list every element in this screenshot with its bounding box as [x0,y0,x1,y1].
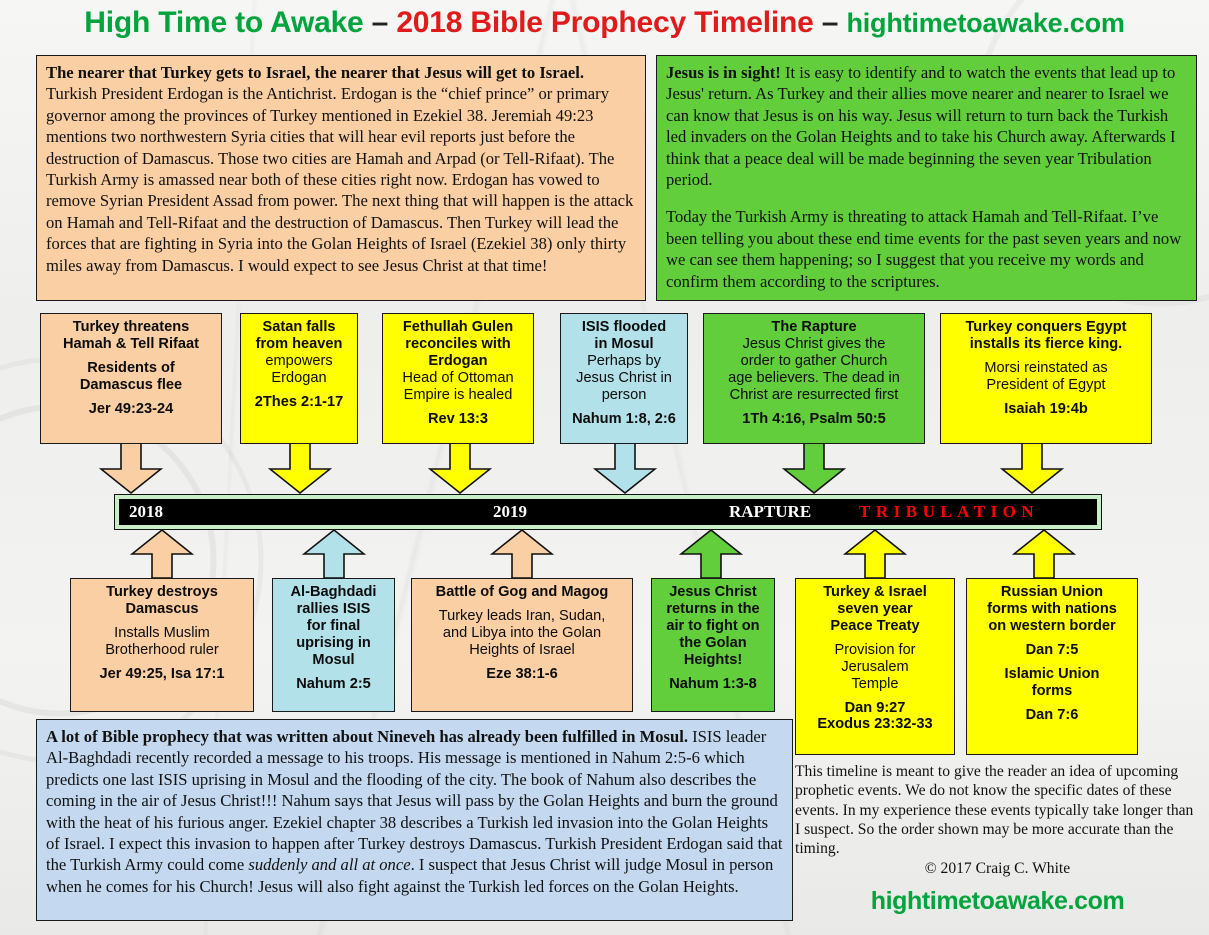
event-box-turkey-destroys-damascus[interactable]: Turkey destroysDamascus Installs MuslimB… [70,578,254,712]
copyright-text: © 2017 Craig C. White [795,859,1200,878]
event-box-al-baghdadi[interactable]: Al-Baghdadirallies ISISfor finaluprising… [272,578,395,712]
down-arrow-the-rapture [782,443,846,495]
event-head: The Rapture [708,319,920,336]
up-arrow-gog-and-magog [490,528,554,580]
timeline-label-2019: 2019 [493,502,527,522]
event-sub: Provision forJerusalemTemple [800,642,950,693]
nineveh-body-a: ISIS leader Al-Baghdadi recently recorde… [46,727,782,874]
up-arrow-russian-union [1012,528,1076,580]
event-head: Jesus Christreturns in theair to fight o… [656,584,770,669]
up-arrow-peace-treaty [843,528,907,580]
intro-left-body: Turkish President Erdogan is the Antichr… [46,84,633,274]
event-reference: Jer 49:23-24 [45,401,217,418]
down-arrow-satan-falls [268,443,332,495]
event-box-the-rapture[interactable]: The Rapture Jesus Christ gives theorder … [703,313,925,444]
timeline-track: 2018 2019 RAPTURE TRIBULATION [119,499,1097,525]
event-reference: Rev 13:3 [387,411,529,428]
event-head: Turkey threatensHamah & Tell Rifaat [45,319,217,353]
intro-right-lead: Jesus is in sight! [666,63,781,82]
title-part-2: 2018 Bible Prophecy Timeline [396,6,813,39]
event-box-isis-flooded[interactable]: ISIS floodedin Mosul Perhaps byJesus Chr… [560,313,688,444]
nineveh-paragraph: A lot of Bible prophecy that was written… [36,719,793,921]
up-arrow-jesus-returns [679,528,743,580]
intro-right-body-2: Today the Turkish Army is threating to a… [666,207,1181,290]
event-box-turkey-threatens[interactable]: Turkey threatensHamah & Tell Rifaat Resi… [40,313,222,444]
intro-paragraph-right: Jesus is in sight! It is easy to identif… [656,55,1197,301]
event-reference: Eze 38:1-6 [416,666,628,683]
event-box-satan-falls[interactable]: Satan fallsfrom heaven empowersErdogan 2… [240,313,358,444]
event-reference: Nahum 2:5 [277,676,390,693]
title-website: hightimetoawake.com [846,8,1124,38]
nineveh-italic: suddenly and all at once [248,855,410,874]
event-head: Fethullah Gulenreconciles withErdogan [387,319,529,370]
event-sub: Morsi reinstated asPresident of Egypt [945,360,1147,394]
event-reference: 2Thes 2:1-17 [245,394,353,411]
event-head: Turkey & Israelseven yearPeace Treaty [800,584,950,635]
event-reference: Jer 49:25, Isa 17:1 [75,666,249,683]
event-box-gog-and-magog[interactable]: Battle of Gog and Magog Turkey leads Ira… [411,578,633,712]
event-box-gulen-reconciles[interactable]: Fethullah Gulenreconciles withErdogan He… [382,313,534,444]
event-sub: Installs MuslimBrotherhood ruler [75,625,249,659]
event-reference: Dan 7:5 [971,642,1133,659]
event-head: Turkey destroysDamascus [75,584,249,618]
event-sub: Jesus Christ gives theorder to gather Ch… [708,336,920,404]
event-head: Battle of Gog and Magog [416,584,628,601]
timeline-label-tribulation: TRIBULATION [859,502,1039,522]
down-arrow-turkey-threatens [99,443,163,495]
footer-website: hightimetoawake.com [795,886,1200,917]
disclaimer-block: This timeline is meant to give the reade… [795,762,1200,917]
event-head: ISIS floodedin Mosul [565,319,683,353]
event-box-turkey-conquers-egypt[interactable]: Turkey conquers Egyptinstalls its fierce… [940,313,1152,444]
event-head: Turkey conquers Egyptinstalls its fierce… [945,319,1147,353]
down-arrow-gulen-reconciles [428,443,492,495]
up-arrow-al-baghdadi [302,528,366,580]
event-sub: empowersErdogan [245,353,353,387]
event-reference: 1Th 4:16, Psalm 50:5 [708,411,920,428]
nineveh-lead: A lot of Bible prophecy that was written… [46,727,688,746]
down-arrow-isis-flooded [593,443,657,495]
event-sub: Turkey leads Iran, Sudan,and Libya into … [416,608,628,659]
event-sub: Head of OttomanEmpire is healed [387,370,529,404]
event-box-jesus-returns[interactable]: Jesus Christreturns in theair to fight o… [651,578,775,712]
title-dash-1: – [364,6,397,39]
page-title: High Time to Awake – 2018 Bible Prophecy… [0,6,1209,40]
disclaimer-text: This timeline is meant to give the reade… [795,762,1200,859]
event-reference: Nahum 1:8, 2:6 [565,411,683,428]
event-reference: Dan 9:27Exodus 23:32-33 [800,700,950,734]
event-head: Al-Baghdadirallies ISISfor finaluprising… [277,584,390,669]
timeline-label-2018: 2018 [129,502,163,522]
event-box-russian-union[interactable]: Russian Unionforms with nationson wester… [966,578,1138,755]
event-head-2: Residents ofDamascus flee [45,360,217,394]
event-reference: Isaiah 19:4b [945,401,1147,418]
event-sub: Perhaps byJesus Christ inperson [565,353,683,404]
title-part-1: High Time to Awake [84,6,363,39]
intro-left-lead: The nearer that Turkey gets to Israel, t… [46,63,584,82]
intro-paragraph-left: The nearer that Turkey gets to Israel, t… [36,55,646,301]
event-reference: Nahum 1:3-8 [656,676,770,693]
event-head-2: Islamic Unionforms [971,666,1133,700]
timeline-bar: 2018 2019 RAPTURE TRIBULATION [114,494,1102,530]
event-reference-2: Dan 7:6 [971,707,1133,724]
title-dash-2: – [814,6,847,39]
event-box-peace-treaty[interactable]: Turkey & Israelseven yearPeace Treaty Pr… [795,578,955,755]
event-head: Satan fallsfrom heaven [245,319,353,353]
event-head: Russian Unionforms with nationson wester… [971,584,1133,635]
down-arrow-turkey-conquers-egypt [1000,443,1064,495]
timeline-label-rapture: RAPTURE [729,502,811,522]
up-arrow-turkey-destroys-damascus [130,528,194,580]
